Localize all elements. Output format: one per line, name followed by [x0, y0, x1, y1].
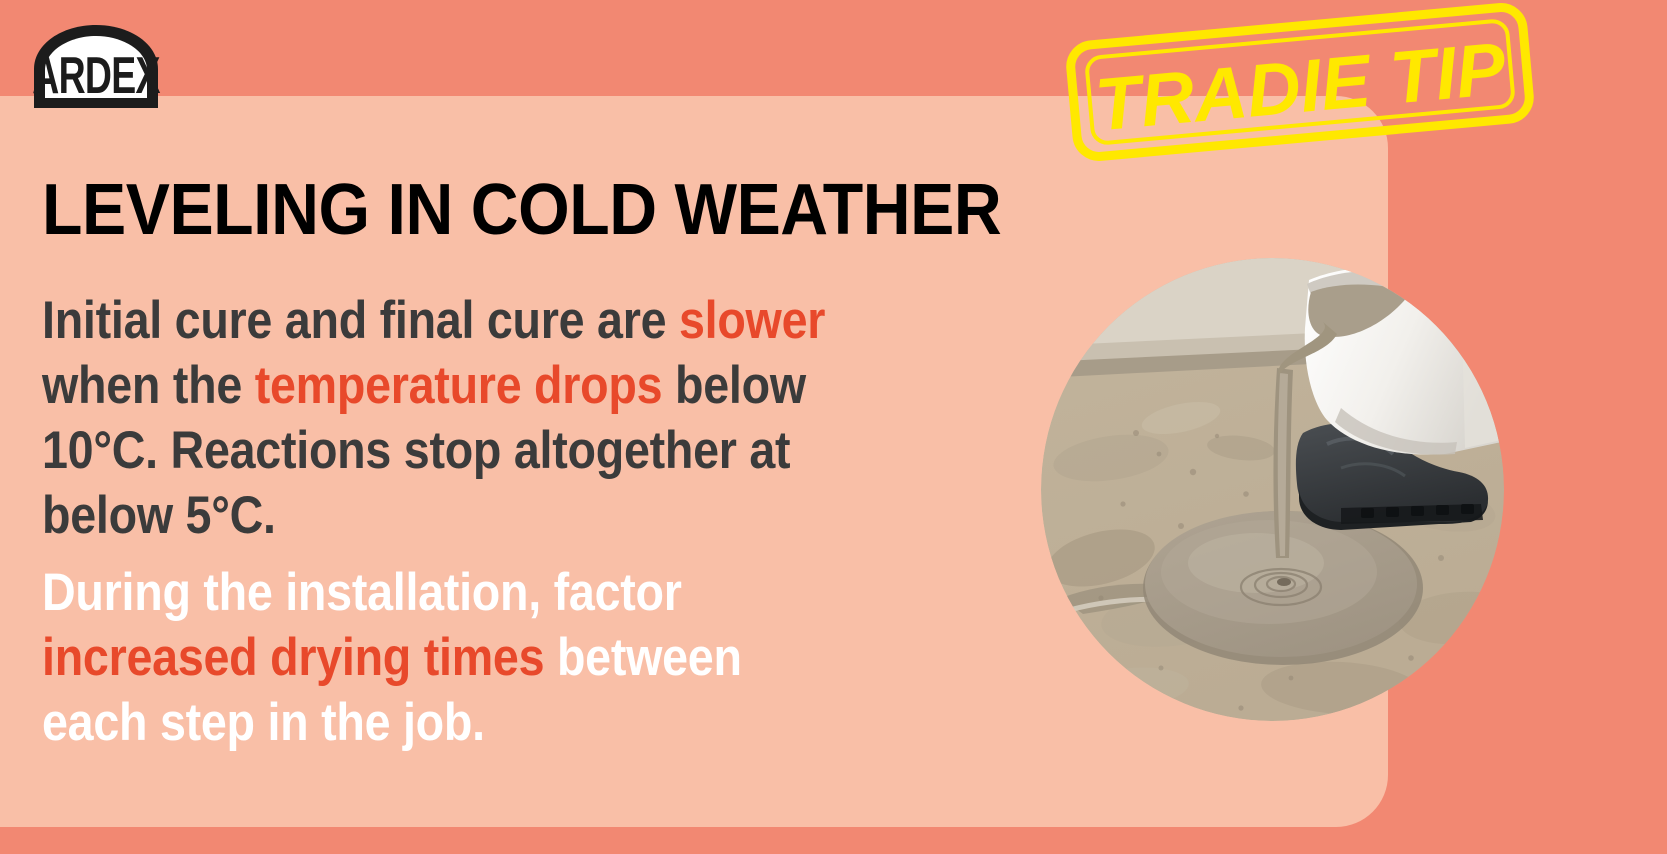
tradie-tip-graphic: ARDEX ARDEX TRADIE TIP TRADIE TIP	[0, 0, 1667, 854]
body-paragraph-installation: During the installation, factor increase…	[42, 560, 852, 755]
ardex-logo: ARDEX	[28, 23, 164, 115]
para1-seg-2: when the	[42, 356, 255, 415]
para2-seg-0: During the installation, factor	[42, 563, 682, 622]
ardex-logo-text: ARDEX	[32, 46, 160, 105]
tradie-tip-stamp: TRADIE TIP	[1065, 8, 1535, 156]
para2-seg-1-highlight: increased drying times	[42, 628, 544, 687]
page-title: LEVELING IN COLD WEATHER	[42, 172, 1100, 248]
para1-seg-0: Initial cure and final cure are	[42, 291, 679, 350]
para1-seg-3-highlight: temperature drops	[255, 356, 663, 415]
pouring-leveling-compound-photo	[1041, 258, 1504, 721]
body-paragraph-cure: Initial cure and final cure are slower w…	[42, 288, 852, 548]
para1-seg-1-highlight: slower	[679, 291, 825, 350]
